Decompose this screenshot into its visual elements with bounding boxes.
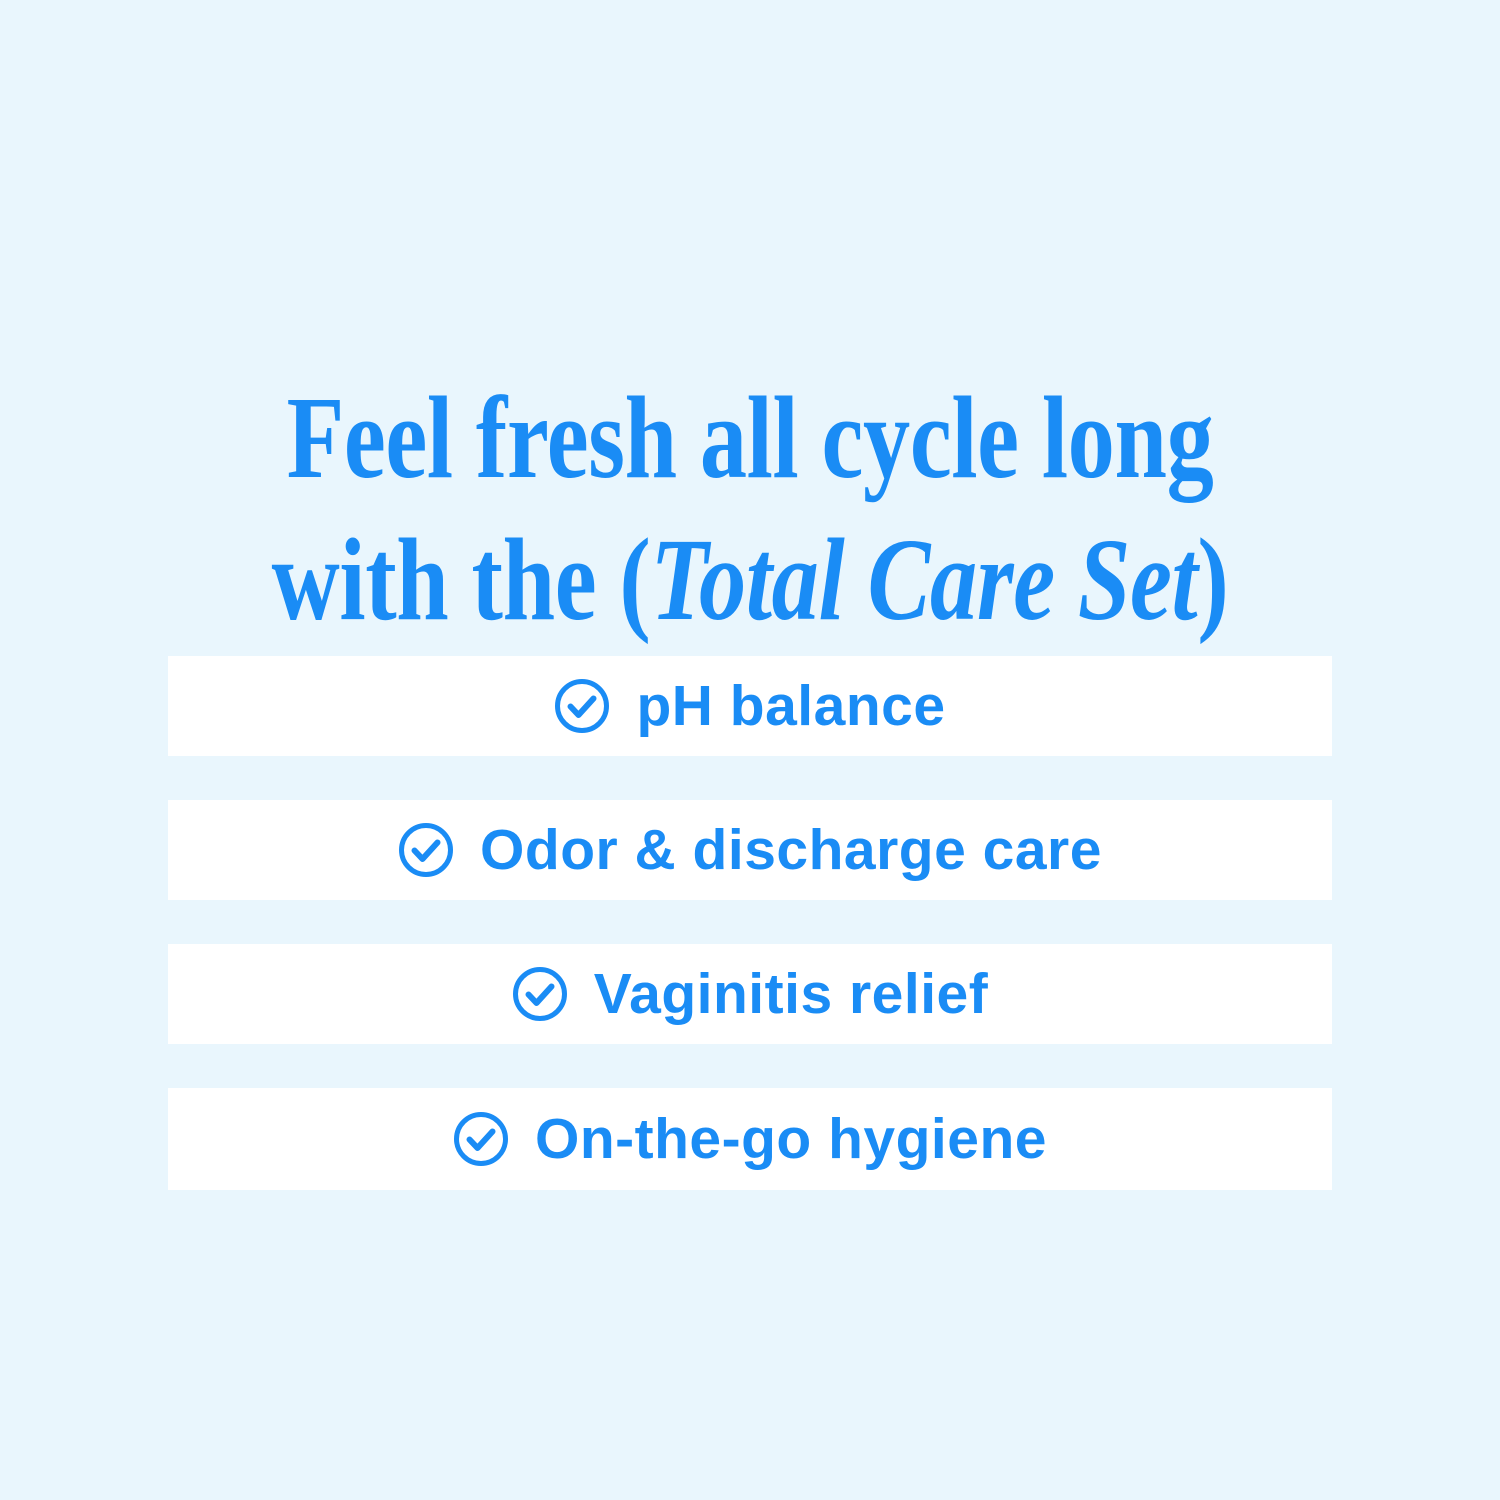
headline-line-2-prefix: with the — [272, 514, 620, 645]
feature-label: Vaginitis relief — [594, 964, 988, 1024]
check-circle-icon — [554, 678, 610, 734]
page-title: Feel fresh all cycle long with the (Tota… — [270, 367, 1230, 651]
list-item: On-the-go hygiene — [168, 1088, 1332, 1190]
promo-poster: Feel fresh all cycle long with the (Tota… — [0, 0, 1500, 1500]
feature-label: pH balance — [636, 676, 945, 736]
feature-label: Odor & discharge care — [480, 820, 1102, 880]
headline-line-2: with the (Total Care Set) — [270, 509, 1230, 651]
check-circle-icon — [453, 1111, 509, 1167]
feature-label: On-the-go hygiene — [535, 1109, 1047, 1169]
headline-emphasis: Total Care Set — [650, 514, 1197, 645]
headline-paren-open: ( — [619, 514, 650, 645]
feature-list: pH balance Odor & discharge care Vaginit… — [168, 656, 1332, 1190]
check-circle-icon — [398, 822, 454, 878]
list-item: pH balance — [168, 656, 1332, 756]
headline-paren-close: ) — [1197, 514, 1228, 645]
list-item: Odor & discharge care — [168, 800, 1332, 900]
list-item: Vaginitis relief — [168, 944, 1332, 1044]
headline-line-1: Feel fresh all cycle long — [270, 367, 1230, 509]
check-circle-icon — [512, 966, 568, 1022]
